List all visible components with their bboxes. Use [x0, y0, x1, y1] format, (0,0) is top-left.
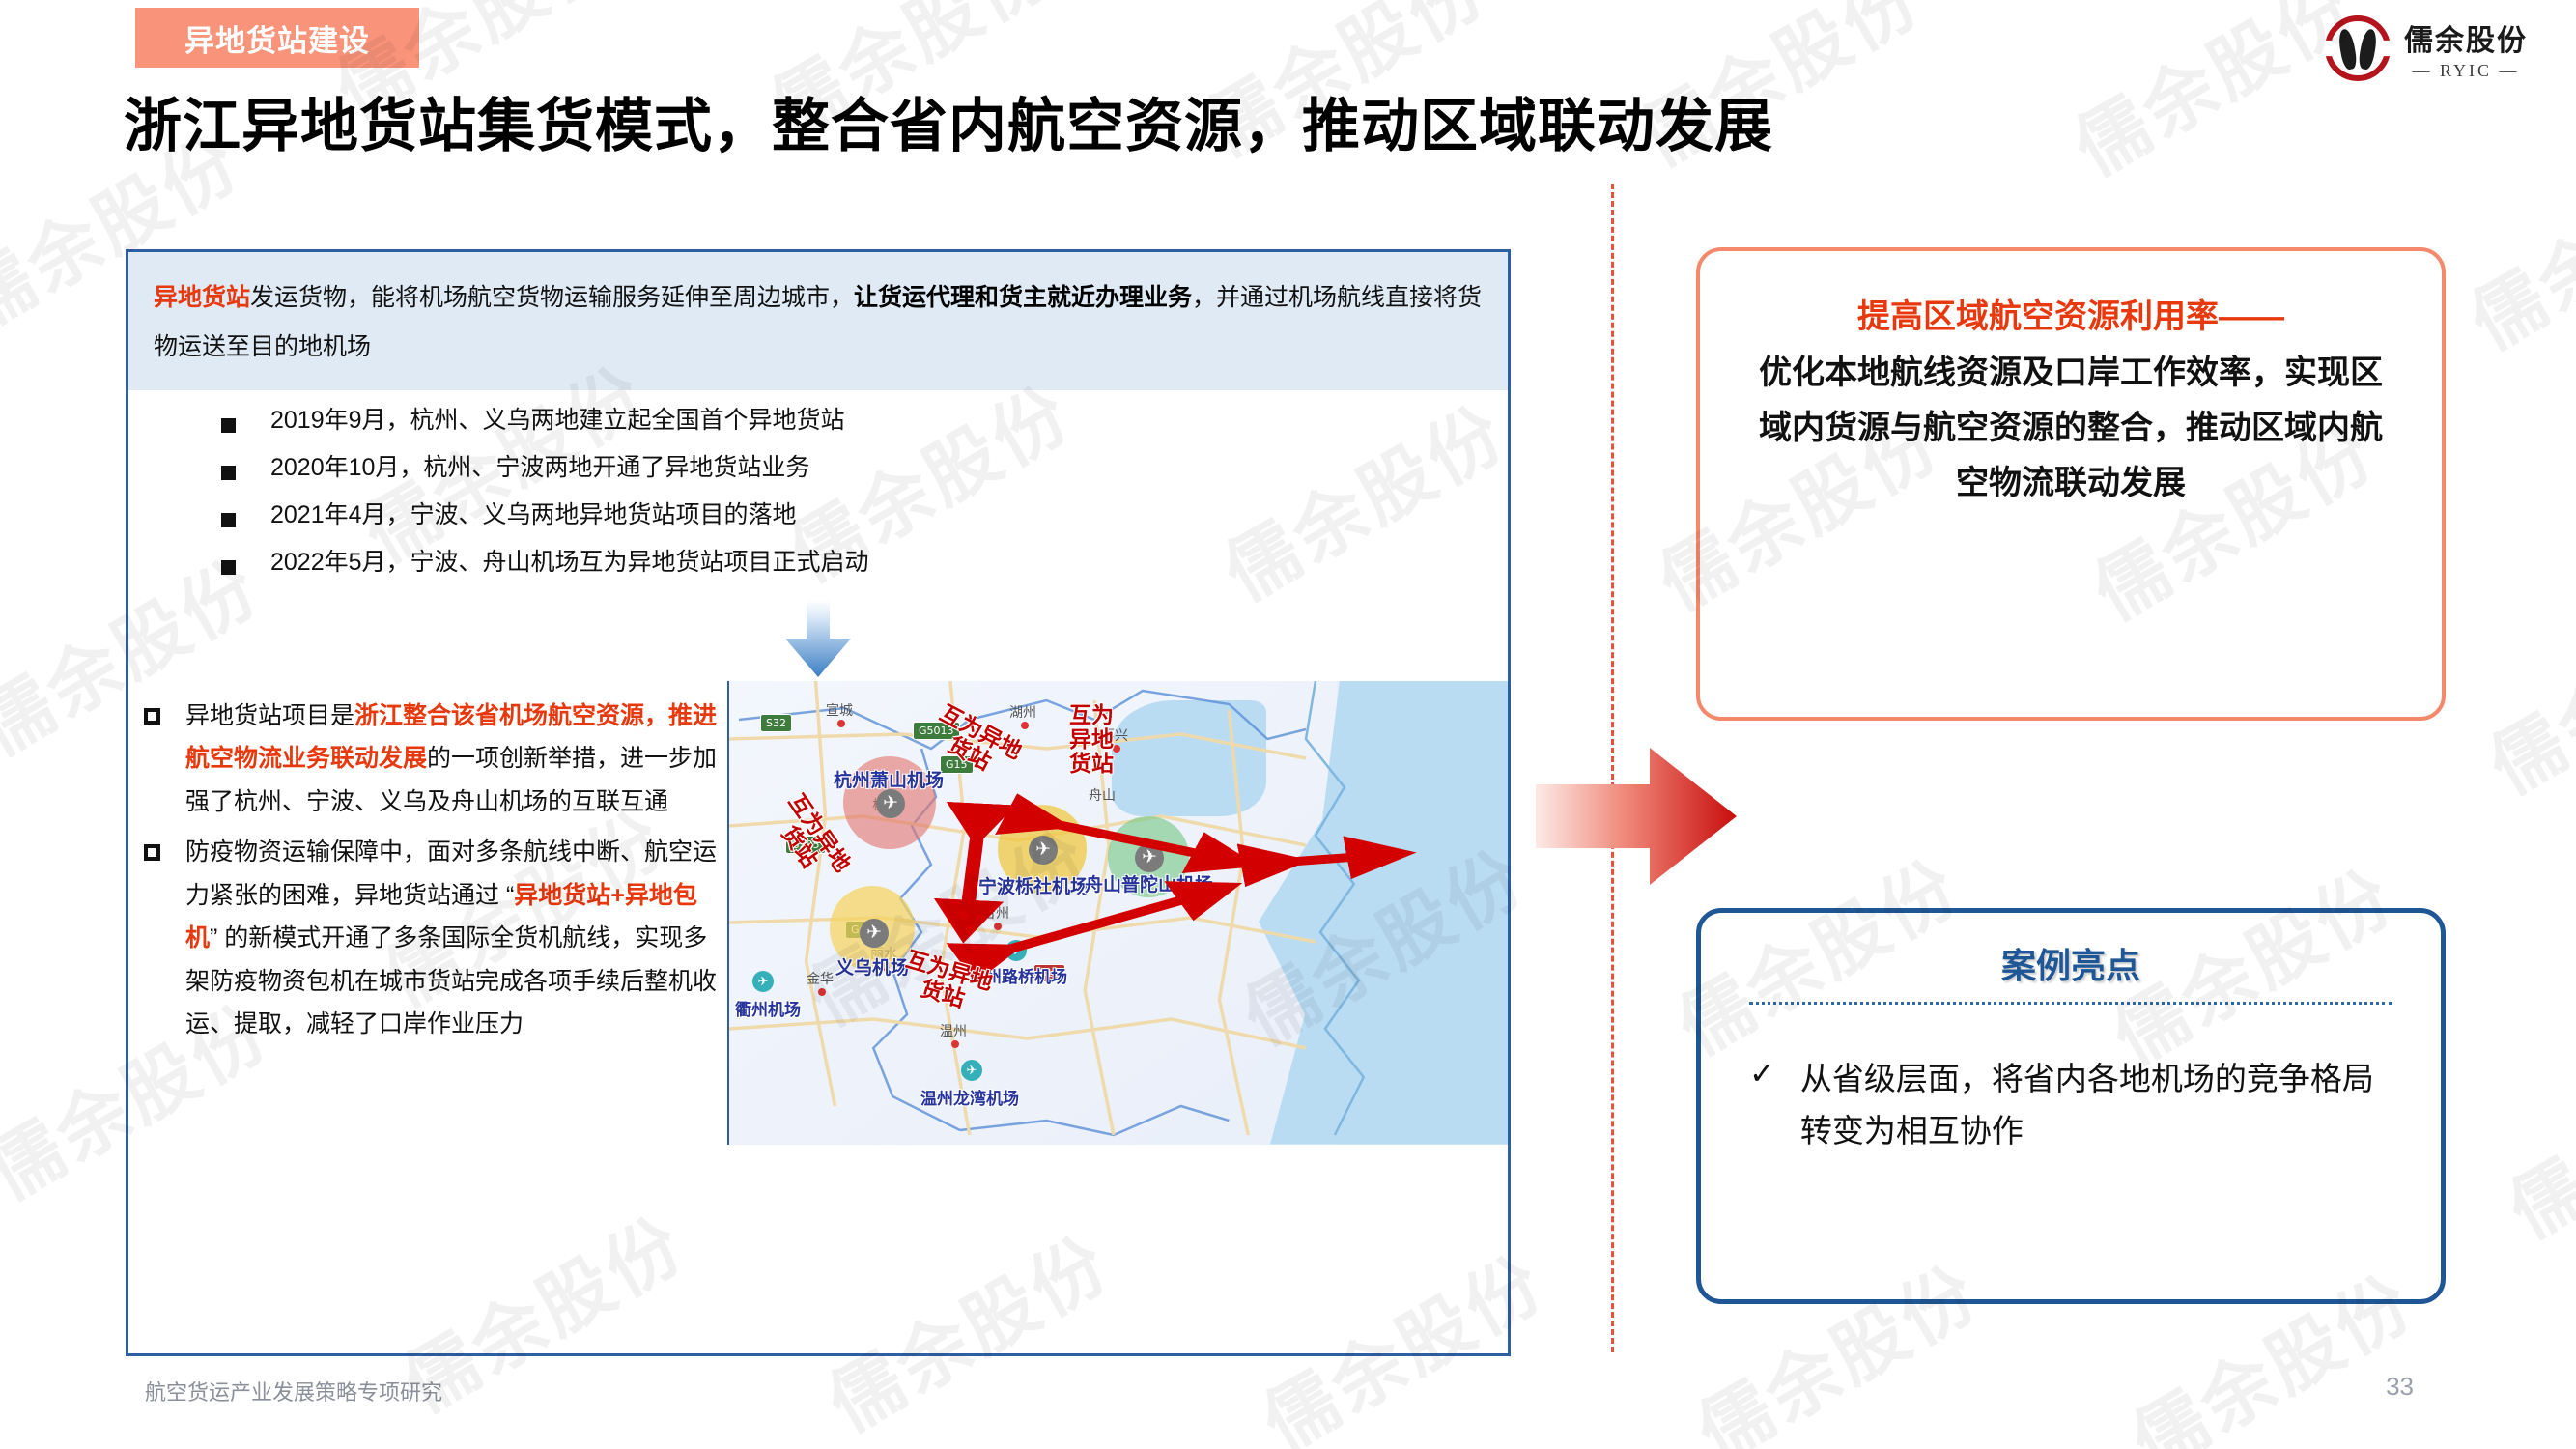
benefit-panel: 提高区域航空资源利用率—— 优化本地航线资源及口岸工作效率，实现区域内货源与航空… — [1696, 247, 2446, 721]
page-number: 33 — [2386, 1372, 2414, 1402]
paragraph-item: 防疫物资运输保障中，面对多条航线中断、航空运力紧张的困难，异地货站通过 “异地货… — [144, 831, 718, 1046]
slide-root: 异地货站建设 儒余股份 — RYIC — 浙江异地货站集货模式，整合省内航空资源… — [0, 0, 2576, 1449]
paragraph-body: 防疫物资运输保障中，面对多条航线中断、航空运力紧张的困难，异地货站通过 “异地货… — [185, 831, 718, 1046]
flow-arrow-container — [128, 596, 1508, 681]
list-item: 2022年5月，宁波、舟山机场互为异地货站项目正式启动 — [221, 548, 1508, 578]
logo-en-name: — RYIC — — [2412, 61, 2519, 81]
timeline-item-label: 2020年10月，杭州、宁波两地开通了异地货站业务 — [270, 453, 809, 483]
timeline-item-label: 2021年4月，宁波、义乌两地异地货站项目的落地 — [270, 500, 797, 530]
arrow-down-icon — [779, 596, 857, 681]
square-bullet-icon — [221, 418, 236, 433]
watermark: 儒余股份 — [2486, 1011, 2576, 1258]
timeline-list: 2019年9月，杭州、义乌两地建立起全国首个异地货站 2020年10月，杭州、宁… — [128, 390, 1508, 579]
company-logo: 儒余股份 — RYIC — — [2325, 15, 2528, 81]
intro-highlight-bold: 让货运代理和货主就近办理业务 — [854, 284, 1192, 311]
arrow-label: 互为 异地 货站 — [1069, 704, 1114, 778]
hollow-square-bullet-icon — [144, 708, 160, 724]
page-title: 浙江异地货站集货模式，整合省内航空资源，推动区域联动发展 — [124, 95, 2249, 158]
timeline-item-label: 2019年9月，杭州、义乌两地建立起全国首个异地货站 — [270, 406, 845, 436]
highlight-item: ✓ 从省级层面，将省内各地机场的竞争格局转变为相互协作 — [1740, 1053, 2402, 1158]
list-item: 2021年4月，宁波、义乌两地异地货站项目的落地 — [221, 500, 1508, 530]
section-badge: 异地货站建设 — [135, 8, 419, 68]
highlight-separator — [1749, 1002, 2392, 1005]
highlight-panel: 案例亮点 ✓ 从省级层面，将省内各地机场的竞争格局转变为相互协作 — [1696, 908, 2446, 1304]
paragraph-body: 异地货站项目是浙江整合该省机场航空资源，推进航空物流业务联动发展的一项创新举措，… — [185, 695, 718, 824]
square-bullet-icon — [221, 560, 236, 575]
para-1-pre: 异地货站项目是 — [185, 702, 354, 729]
footer-note: 航空货运产业发展策略专项研究 — [145, 1376, 442, 1406]
left-content-panel: 异地货站发运货物，能将机场航空货物运输服务延伸至周边城市，让货运代理和货主就近办… — [126, 249, 1511, 1356]
zhejiang-map: S32 G205 G5013 G15 G60 S19 宣城 湖州 嘉兴 杭州 宁… — [727, 681, 1508, 1145]
paragraph-item: 异地货站项目是浙江整合该省机场航空资源，推进航空物流业务联动发展的一项创新举措，… — [144, 695, 718, 824]
benefit-headline: 提高区域航空资源利用率—— — [1744, 290, 2397, 346]
lower-content-split: 异地货站项目是浙江整合该省机场航空资源，推进航空物流业务联动发展的一项创新举措，… — [128, 681, 1508, 1145]
logo-text: 儒余股份 — RYIC — — [2404, 16, 2528, 81]
para-2-post: ” 的新模式开通了多条国际全货机航线，实现多架防疫物资包机在城市货站完成各项手续… — [185, 924, 717, 1037]
square-bullet-icon — [221, 466, 236, 480]
check-icon: ✓ — [1749, 1055, 1775, 1158]
highlight-item-label: 从省级层面，将省内各地机场的竞争格局转变为相互协作 — [1800, 1053, 2402, 1158]
list-item: 2019年9月，杭州、义乌两地建立起全国首个异地货站 — [221, 406, 1508, 436]
timeline-item-label: 2022年5月，宁波、舟山机场互为异地货站项目正式启动 — [270, 548, 869, 578]
connection-arrows — [729, 681, 1508, 1145]
intro-paragraph: 异地货站发运货物，能将机场航空货物运输服务延伸至周边城市，让货运代理和货主就近办… — [128, 252, 1508, 390]
highlight-title: 案例亮点 — [1740, 938, 2402, 988]
benefit-body: 优化本地航线资源及口岸工作效率，实现区域内货源与航空资源的整合，推动区域内航空物… — [1744, 346, 2397, 511]
map-canvas: S32 G205 G5013 G15 G60 S19 宣城 湖州 嘉兴 杭州 宁… — [729, 681, 1508, 1145]
watermark: 儒余股份 — [2467, 567, 2576, 813]
section-badge-label: 异地货站建设 — [184, 16, 370, 60]
detail-paragraphs: 异地货站项目是浙江整合该省机场航空资源，推进航空物流业务联动发展的一项创新举措，… — [128, 681, 727, 1145]
logo-ring-icon — [2325, 15, 2391, 81]
list-item: 2020年10月，杭州、宁波两地开通了异地货站业务 — [221, 453, 1508, 483]
square-bullet-icon — [221, 513, 236, 527]
intro-text-1: 发运货物，能将机场航空货物运输服务延伸至周边城市， — [250, 284, 854, 311]
watermark: 儒余股份 — [2448, 123, 2576, 369]
logo-cn-name: 儒余股份 — [2404, 16, 2528, 59]
arrow-right-icon — [1536, 734, 1739, 898]
hollow-square-bullet-icon — [144, 844, 160, 861]
intro-highlight-red: 异地货站 — [154, 284, 250, 311]
